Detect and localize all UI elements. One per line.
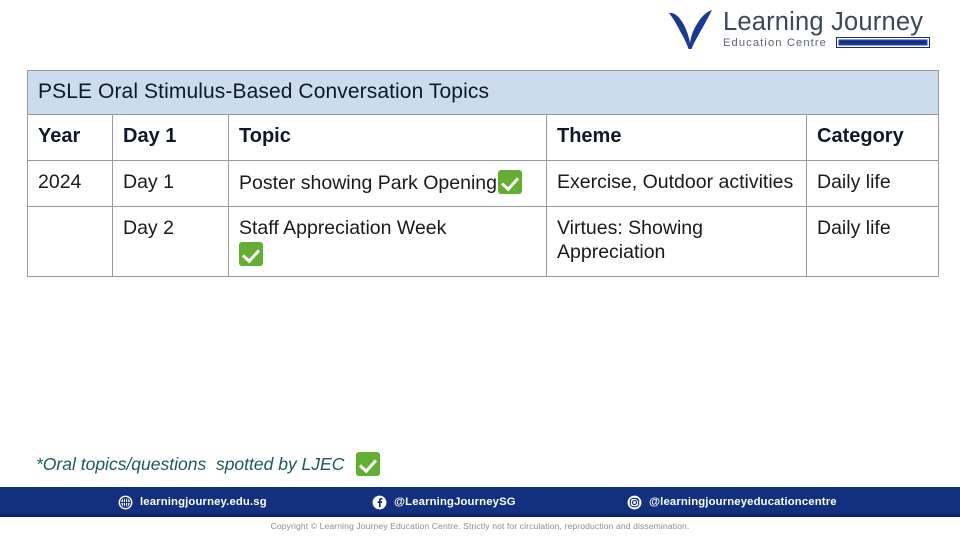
footnote: *Oral topics/questions spotted by LJEC <box>36 452 380 476</box>
facebook-icon <box>372 495 387 510</box>
swoosh-check-icon <box>667 6 715 52</box>
cell-theme: Exercise, Outdoor activities <box>547 161 807 207</box>
footer-facebook[interactable]: @LearningJourneySG <box>372 495 516 510</box>
cell-day: Day 2 <box>113 206 229 277</box>
table-title-row: PSLE Oral Stimulus-Based Conversation To… <box>28 71 939 115</box>
cell-topic: Poster showing Park Opening <box>229 161 547 207</box>
instagram-icon <box>627 495 642 510</box>
brand-logo: Learning Journey Education Centre <box>667 6 930 52</box>
footer-instagram[interactable]: @learningjourneyeducationcentre <box>627 495 837 510</box>
table-title: PSLE Oral Stimulus-Based Conversation To… <box>28 71 939 115</box>
column-header-year: Year <box>28 115 113 161</box>
column-header-category: Category <box>807 115 939 161</box>
cell-theme: Virtues: Showing Appreciation <box>547 206 807 277</box>
footer-website-label: learningjourney.edu.sg <box>140 496 267 508</box>
logo-subtitle: Education Centre <box>723 37 827 49</box>
cell-category: Daily life <box>807 206 939 277</box>
logo-text: Learning Journey Education Centre <box>723 9 930 49</box>
globe-icon <box>118 495 133 510</box>
column-header-theme: Theme <box>547 115 807 161</box>
green-check-icon <box>356 452 380 476</box>
cell-topic-text: Poster showing Park Opening <box>239 172 497 194</box>
cell-topic-text: Staff Appreciation Week <box>239 217 446 239</box>
footnote-text: *Oral topics/questions spotted by LJEC <box>36 454 349 475</box>
topics-table: PSLE Oral Stimulus-Based Conversation To… <box>27 70 939 277</box>
footer-instagram-label: @learningjourneyeducationcentre <box>649 496 837 508</box>
footer-facebook-label: @LearningJourneySG <box>394 496 516 508</box>
column-header-topic: Topic <box>229 115 547 161</box>
copyright-notice: Copyright © Learning Journey Education C… <box>0 521 960 531</box>
logo-title: Learning Journey <box>723 9 930 36</box>
logo-subtitle-row: Education Centre <box>723 37 930 49</box>
table-header-row: Year Day 1 Topic Theme Category <box>28 115 939 161</box>
slide-page: Learning Journey Education Centre PSLE O… <box>0 0 960 540</box>
column-header-day: Day 1 <box>113 115 229 161</box>
cell-topic: Staff Appreciation Week <box>229 206 547 277</box>
cell-day: Day 1 <box>113 161 229 207</box>
table-row: 2024 Day 1 Poster showing Park Opening E… <box>28 161 939 207</box>
green-check-icon <box>239 242 263 266</box>
footer-bar: learningjourney.edu.sg @LearningJourneyS… <box>0 487 960 517</box>
cell-year <box>28 206 113 277</box>
cell-category: Daily life <box>807 161 939 207</box>
cell-year: 2024 <box>28 161 113 207</box>
green-check-icon <box>498 170 522 194</box>
logo-accent-bar <box>836 37 930 48</box>
table-row: Day 2 Staff Appreciation Week Virtues: S… <box>28 206 939 277</box>
footer-website[interactable]: learningjourney.edu.sg <box>118 495 267 510</box>
